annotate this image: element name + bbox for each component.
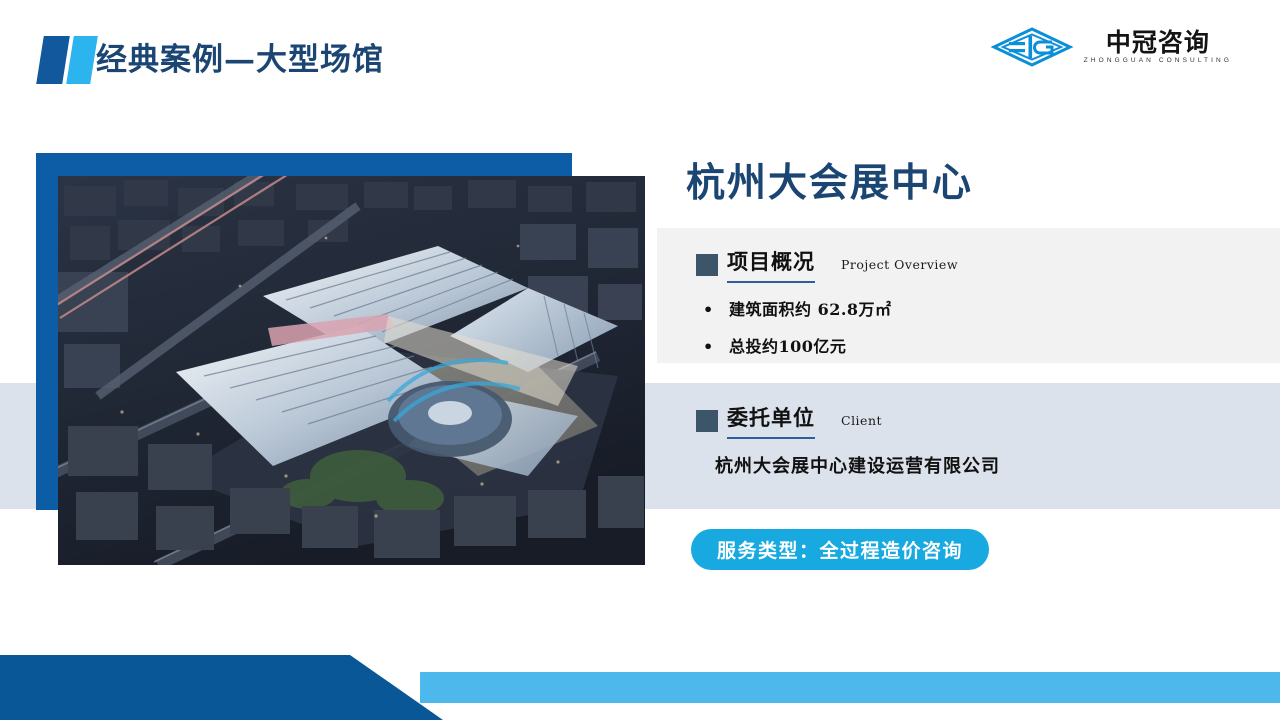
page-title: 经典案例—大型场馆: [96, 36, 384, 84]
bottom-band-dark: [0, 655, 443, 720]
zg-hexagon-icon: [990, 27, 1074, 67]
section-label-en: Project Overview: [841, 257, 958, 272]
section-label-cn: 项目概况: [727, 246, 815, 283]
header-accent-icon: [40, 36, 96, 84]
list-item: • 总投约100亿元: [703, 333, 892, 357]
service-type-badge: 服务类型：全过程造价咨询: [691, 529, 989, 570]
brand-logo: 中冠咨询 ZHONGGUAN CONSULTING: [990, 27, 1232, 67]
section-header-client: 委托单位 Client: [696, 402, 882, 439]
slide-canvas: 经典案例—大型场馆 中冠咨询 ZHONGGUAN CONSULTING: [0, 0, 1280, 720]
section-label-en: Client: [841, 413, 882, 428]
accent-bar-light: [66, 36, 98, 84]
overview-bullet-list: • 建筑面积约 62.8万㎡ • 总投约100亿元: [703, 296, 892, 370]
bullet-marker: •: [703, 337, 729, 356]
bullet-text: 建筑面积约 62.8万㎡: [729, 296, 892, 320]
project-title: 杭州大会展中心: [686, 152, 973, 208]
brand-name-en: ZHONGGUAN CONSULTING: [1084, 56, 1232, 66]
bullet-text: 总投约100亿元: [729, 333, 846, 357]
section-square-icon: [696, 254, 718, 276]
bullet-marker: •: [703, 300, 729, 319]
section-label-cn: 委托单位: [727, 402, 815, 439]
list-item: • 建筑面积约 62.8万㎡: [703, 296, 892, 320]
accent-bar-dark: [36, 36, 70, 84]
section-header-overview: 项目概况 Project Overview: [696, 246, 958, 283]
section-square-icon: [696, 410, 718, 432]
bottom-band-light: [420, 672, 1280, 703]
aerial-rendering-illustration: [58, 176, 645, 565]
client-name: 杭州大会展中心建设运营有限公司: [715, 452, 1000, 478]
project-photo: [58, 176, 645, 565]
bottom-decoration: [0, 650, 1280, 720]
brand-name-cn: 中冠咨询: [1106, 29, 1210, 56]
brand-text: 中冠咨询 ZHONGGUAN CONSULTING: [1084, 29, 1232, 66]
